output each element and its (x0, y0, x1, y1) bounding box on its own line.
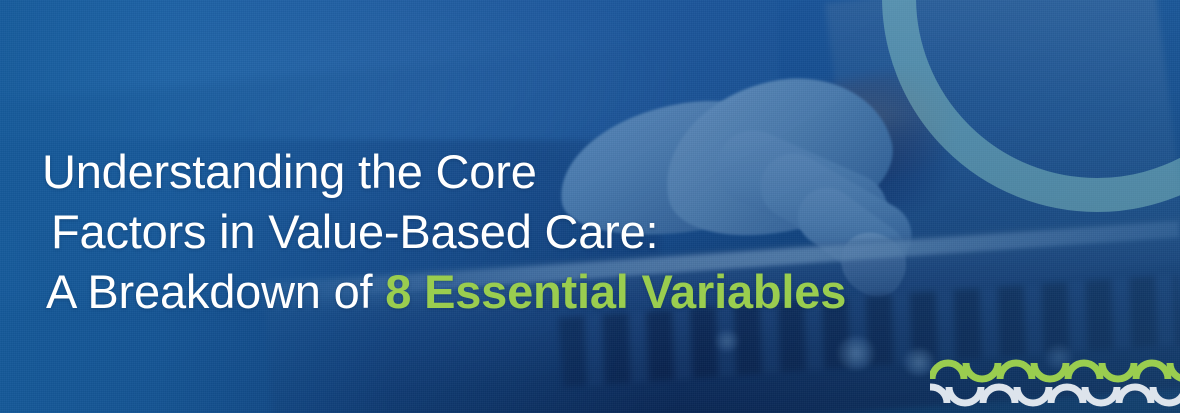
hero-banner: Understanding the Core Factors in Value-… (0, 0, 1180, 413)
title-line-3: A Breakdown of 8 Essential Variables (42, 262, 846, 322)
title-accent-phrase: 8 Essential Variables (385, 265, 846, 318)
title-line-3-prefix: A Breakdown of (46, 265, 385, 318)
title-line-1: Understanding the Core (42, 142, 846, 202)
title-line-2: Factors in Value-Based Care: (42, 202, 846, 262)
page-title: Understanding the Core Factors in Value-… (42, 142, 846, 322)
